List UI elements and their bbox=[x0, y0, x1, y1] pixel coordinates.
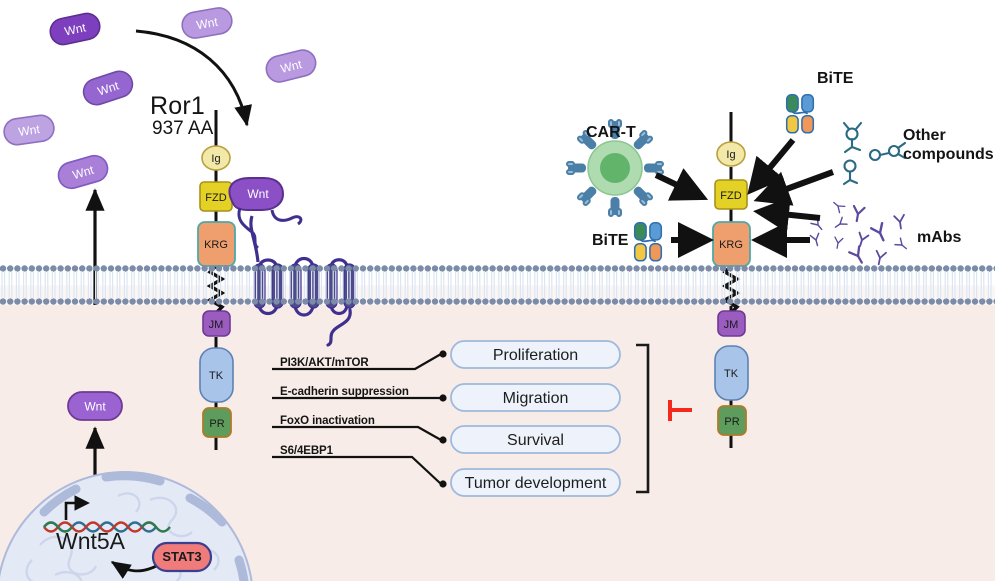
car-t-label: CAR-T bbox=[586, 124, 636, 142]
plasma-membrane bbox=[0, 266, 995, 305]
svg-text:Wnt: Wnt bbox=[84, 400, 106, 414]
domain-krg-left-label: KRG bbox=[204, 239, 228, 251]
gene-label-wnt5a: Wnt5A bbox=[56, 528, 125, 555]
outcome-label-2: Survival bbox=[451, 432, 620, 450]
domain-fzd-left-label: FZD bbox=[205, 192, 226, 204]
bite-left-label: BiTE bbox=[592, 232, 628, 250]
domain-tk-right-label: TK bbox=[724, 368, 739, 380]
domain-jm-right-label: JM bbox=[724, 319, 739, 331]
other-compounds-label-line1: Other bbox=[903, 127, 946, 145]
pathway-label-0: PI3K/AKT/mTOR bbox=[280, 357, 369, 369]
bite-top-label: BiTE bbox=[817, 70, 853, 88]
domain-pr-left-label: PR bbox=[209, 418, 224, 430]
outcome-label-1: Migration bbox=[451, 390, 620, 408]
ror1-length: 937 AA bbox=[152, 118, 213, 140]
outcome-label-0: Proliferation bbox=[451, 347, 620, 365]
other-compounds-label-line2: compounds bbox=[903, 146, 994, 164]
pathway-label-2: FoxO inactivation bbox=[280, 415, 375, 427]
wnt-bound-label: Wnt bbox=[247, 187, 269, 201]
domain-ig-right-label: Ig bbox=[726, 149, 735, 161]
stat3-label: STAT3 bbox=[153, 549, 211, 564]
domain-krg-right-label: KRG bbox=[719, 239, 743, 251]
pathway-label-1: E-cadherin suppression bbox=[280, 386, 409, 398]
figure-canvas: Ig FZD KRG JM TK PR Wnt Wnt bbox=[0, 0, 995, 581]
pathway-label-3: S6/4EBP1 bbox=[280, 445, 333, 457]
domain-pr-right-label: PR bbox=[724, 416, 739, 428]
domain-ig-left-label: Ig bbox=[211, 153, 220, 165]
domain-fzd-right-label: FZD bbox=[720, 190, 741, 202]
domain-tk-left-label: TK bbox=[209, 370, 224, 382]
domain-jm-left-label: JM bbox=[209, 319, 224, 331]
mabs-label: mAbs bbox=[917, 229, 961, 247]
outcome-label-3: Tumor development bbox=[451, 475, 620, 493]
wnt-ligand-cytoplasmic: Wnt bbox=[68, 392, 122, 420]
ror1-title: Ror1 bbox=[150, 92, 205, 121]
